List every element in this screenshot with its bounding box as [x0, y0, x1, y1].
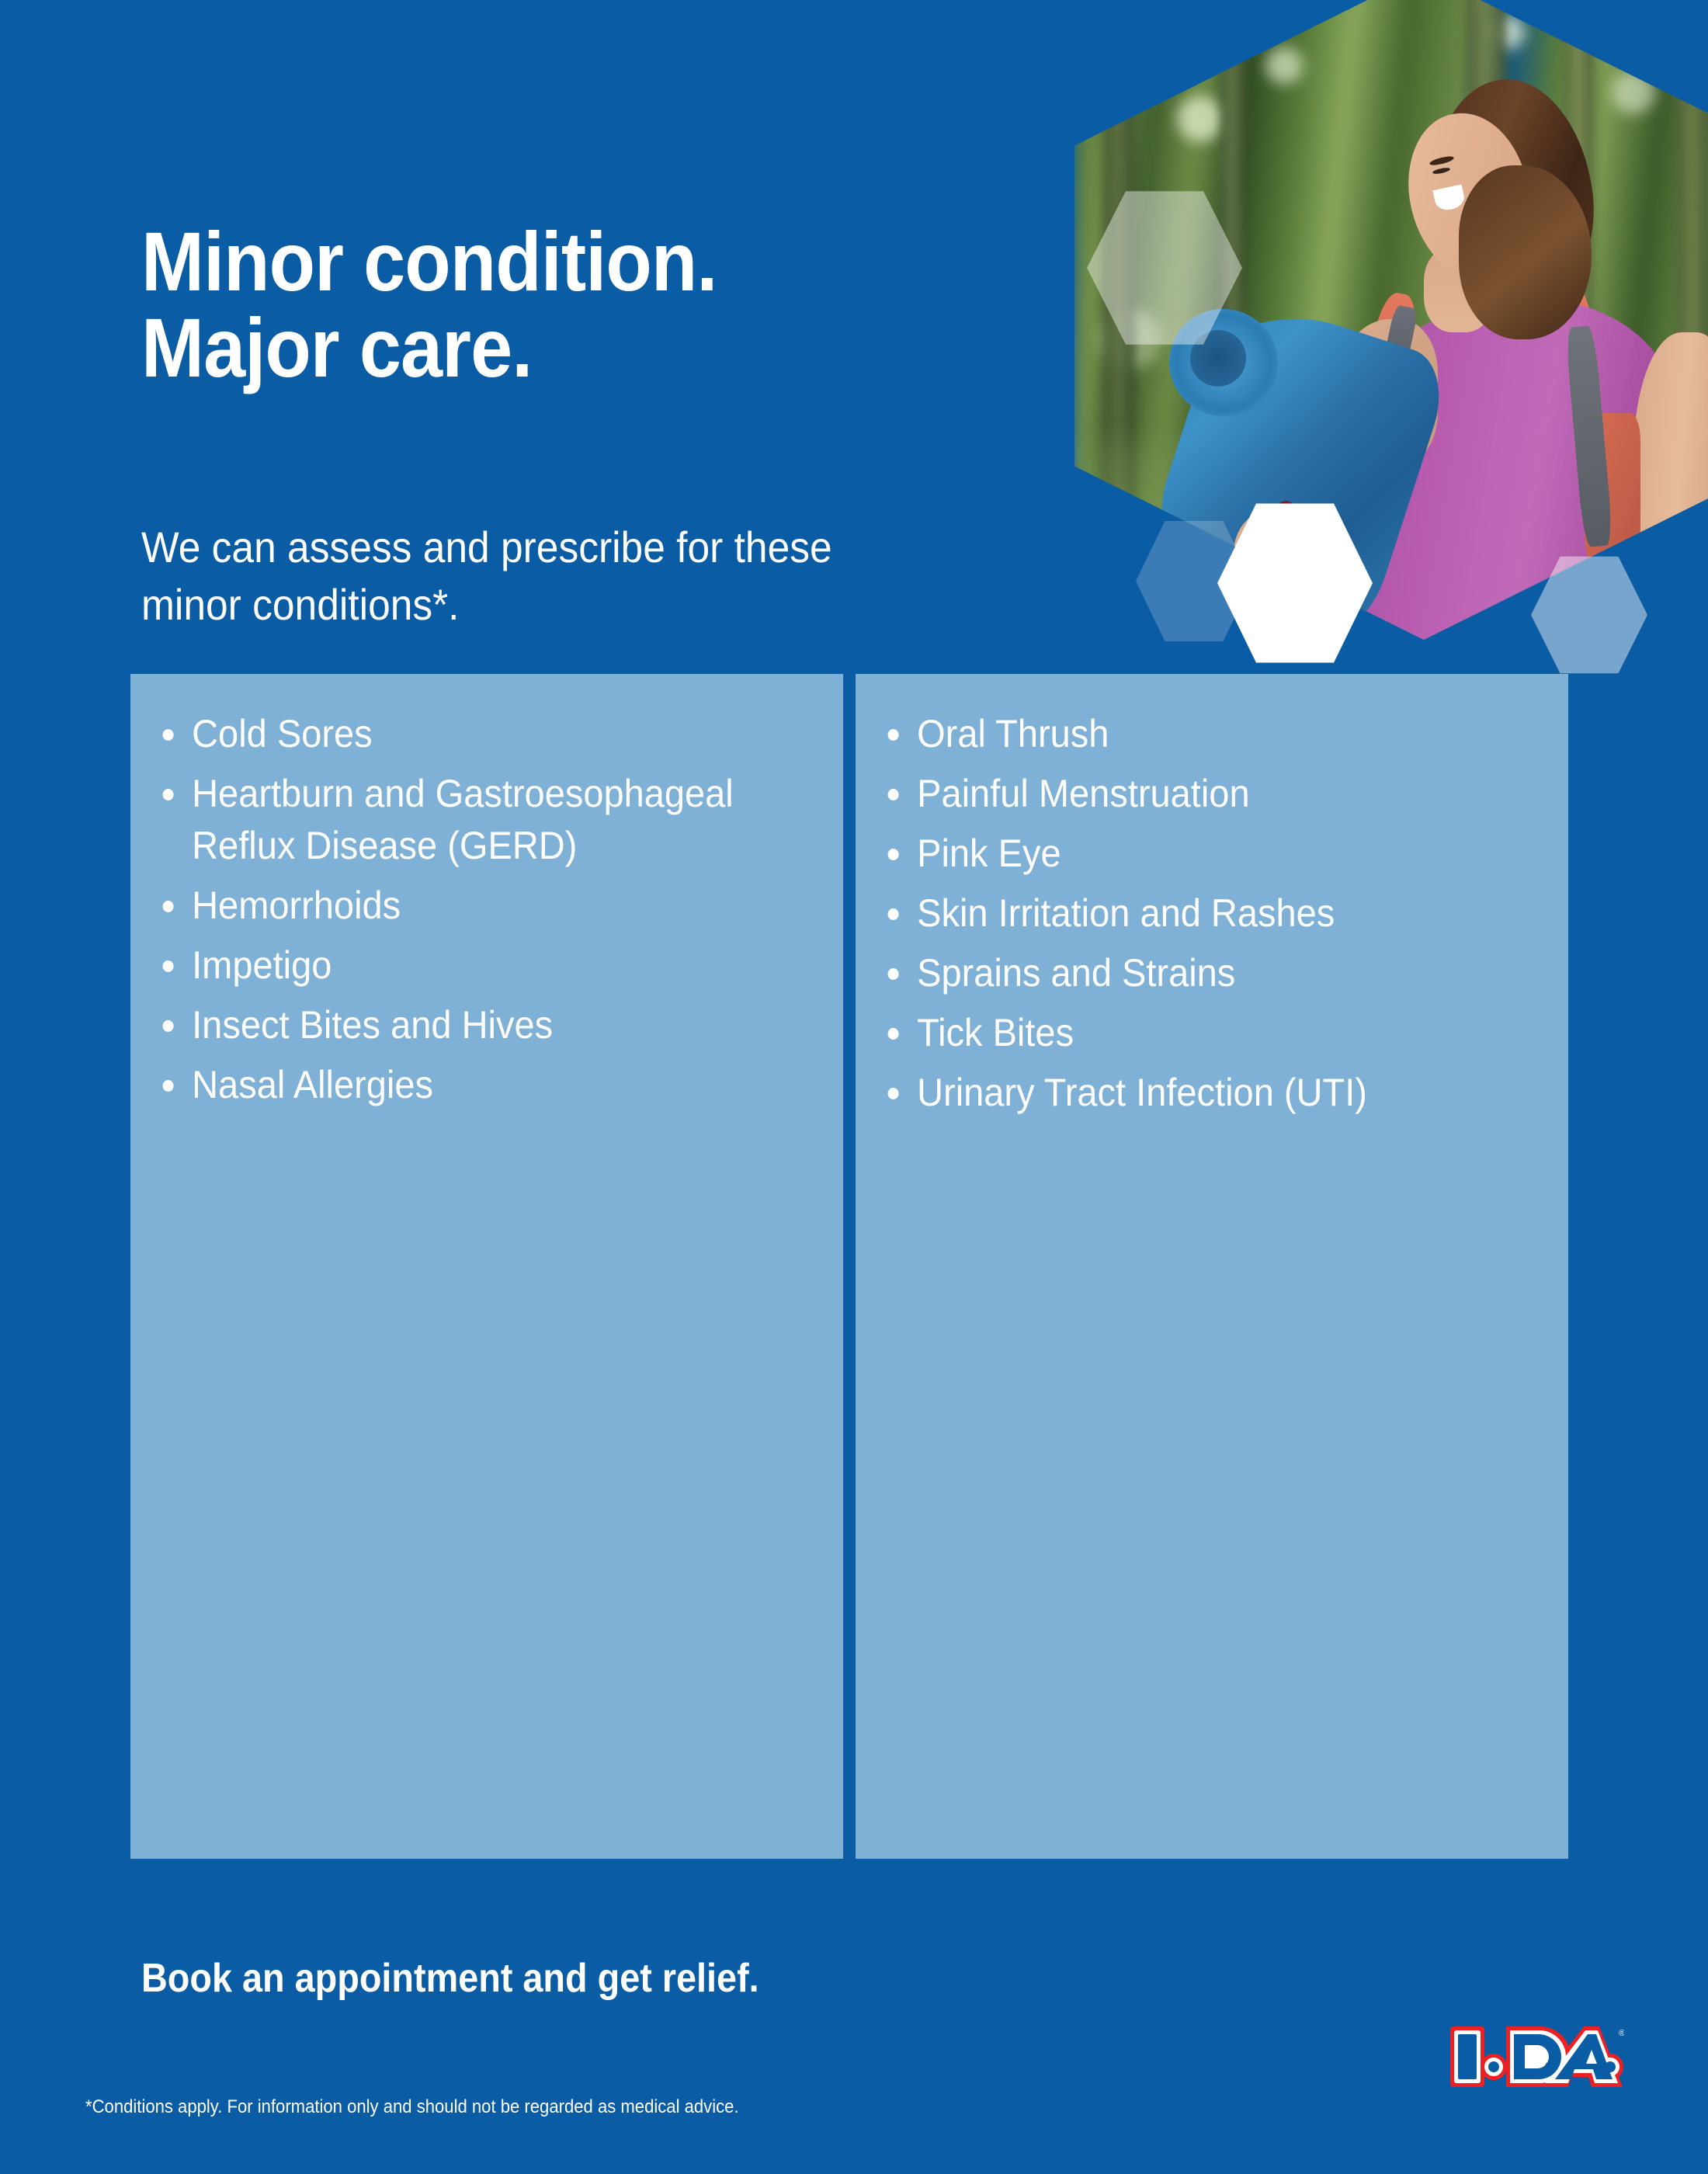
- poster-canvas: Minor condition. Major care. We can asse…: [0, 0, 1708, 2174]
- headline-line-1: Minor condition.: [141, 219, 966, 304]
- disclaimer-text: *Conditions apply. For information only …: [85, 2096, 739, 2118]
- subheading-line-1: We can assess and prescribe for these: [141, 519, 984, 576]
- conditions-panels: Cold Sores Heartburn and Gastroesophagea…: [130, 674, 1568, 1859]
- conditions-panel-left: Cold Sores Heartburn and Gastroesophagea…: [130, 674, 843, 1859]
- headline-line-2: Major care.: [141, 305, 966, 391]
- list-item: Nasal Allergies: [157, 1059, 777, 1111]
- list-item: Impetigo: [157, 939, 777, 991]
- list-item: Urinary Tract Infection (UTI): [882, 1067, 1502, 1119]
- list-item: Painful Menstruation: [882, 768, 1502, 820]
- subheading: We can assess and prescribe for these mi…: [141, 519, 984, 634]
- list-item: Tick Bites: [882, 1007, 1502, 1059]
- list-item: Pink Eye: [882, 828, 1502, 880]
- conditions-list-left: Cold Sores Heartburn and Gastroesophagea…: [157, 708, 817, 1111]
- list-item: Skin Irritation and Rashes: [882, 887, 1502, 939]
- list-item: Cold Sores: [157, 708, 777, 760]
- ida-logo: ®: [1446, 2019, 1624, 2096]
- page-title: Minor condition. Major care.: [141, 219, 966, 390]
- call-to-action-text: Book an appointment and get relief.: [141, 1955, 759, 2002]
- ida-logo-shapes: ®: [1450, 2026, 1624, 2087]
- conditions-panel-right: Oral Thrush Painful Menstruation Pink Ey…: [856, 674, 1568, 1859]
- conditions-list-right: Oral Thrush Painful Menstruation Pink Ey…: [882, 708, 1542, 1119]
- hair-back: [1459, 165, 1592, 339]
- list-item: Hemorrhoids: [157, 880, 777, 932]
- list-item: Insect Bites and Hives: [157, 999, 777, 1051]
- registered-mark: ®: [1619, 2029, 1624, 2038]
- list-item: Sprains and Strains: [882, 947, 1502, 999]
- list-item: Oral Thrush: [882, 708, 1502, 760]
- subheading-line-2: minor conditions*.: [141, 576, 984, 634]
- list-item: Heartburn and Gastroesophageal Reflux Di…: [157, 768, 777, 872]
